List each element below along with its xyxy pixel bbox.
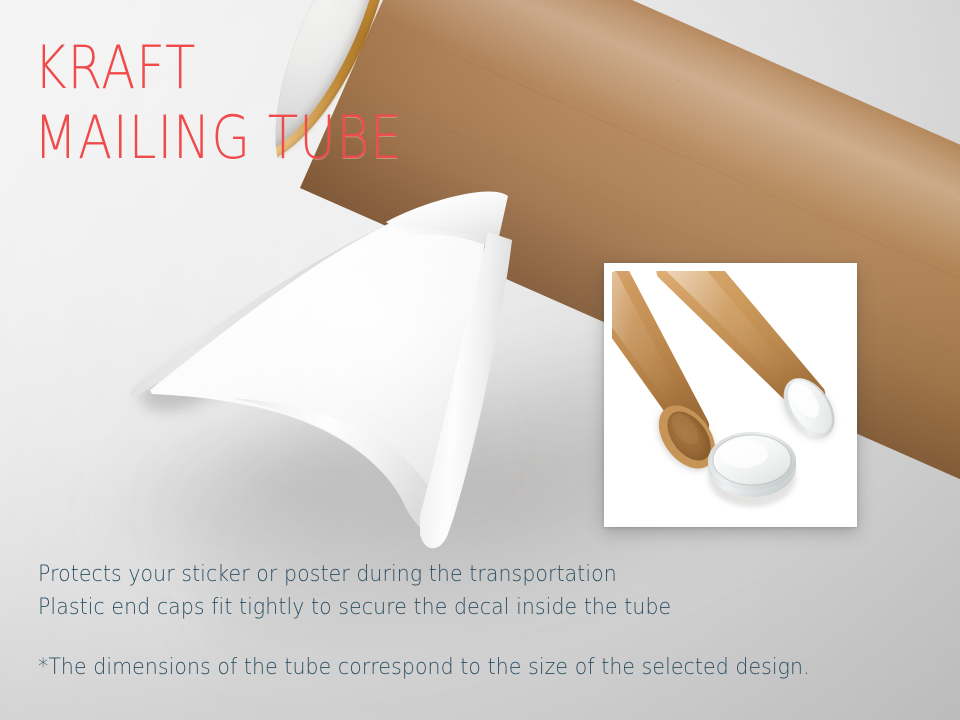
title-line-1: KRAFT	[34, 34, 403, 104]
feature-line-1: Protects your sticker or poster during t…	[38, 558, 671, 591]
product-photo-inset	[604, 263, 857, 527]
feature-list: Protects your sticker or poster during t…	[38, 558, 671, 625]
product-banner: KRAFT MAILING TUBE Protects your sticker…	[0, 0, 960, 720]
inset-photo-canvas	[612, 271, 849, 517]
title-line-2: MAILING TUBE	[34, 104, 403, 174]
inset-illustration	[612, 271, 849, 517]
page-title: KRAFT MAILING TUBE	[34, 34, 403, 173]
footnote: *The dimensions of the tube correspond t…	[38, 655, 810, 680]
feature-line-2: Plastic end caps fit tightly to secure t…	[38, 591, 671, 624]
loose-cap-gloss	[720, 440, 768, 468]
